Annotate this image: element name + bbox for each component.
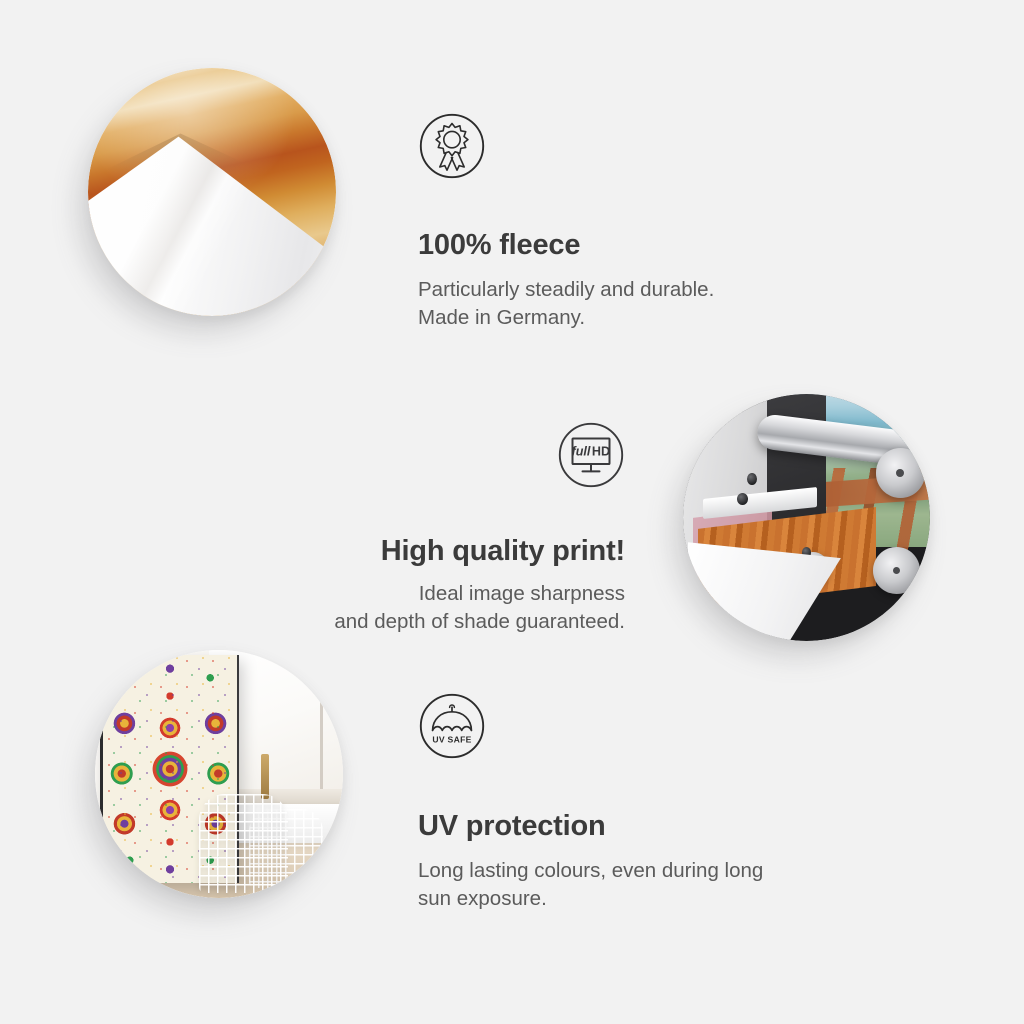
fullhd-monitor-icon: full HD — [557, 421, 625, 489]
room-window-frame — [320, 660, 323, 809]
room-wire-chair — [199, 794, 288, 893]
feature-body: Ideal image sharpness and depth of shade… — [265, 580, 625, 637]
mandala-wallpaper-interior-photo — [95, 650, 343, 898]
photo-inner — [88, 68, 336, 316]
uv-safe-icon-label: UV SAFE — [432, 734, 471, 744]
peeled-fleece-wallpaper-corner-photo — [88, 68, 336, 316]
award-ribbon-icon — [418, 112, 486, 180]
fullhd-icon-label-full: full — [572, 444, 591, 458]
feature-print: full HD High quality print! Ideal image … — [265, 421, 625, 637]
feature-title: 100% fleece — [418, 229, 714, 262]
feature-fleece: 100% fleece Particularly steadily and du… — [418, 112, 714, 333]
press-wheel-hub — [893, 567, 901, 575]
feature-graphic-stage: 100% fleece Particularly steadily and du… — [0, 0, 1024, 1024]
feature-body: Long lasting colours, even during long s… — [418, 857, 763, 914]
press-wheel-hub — [896, 469, 904, 477]
feature-body: Particularly steadily and durable. Made … — [418, 276, 714, 333]
photo-inner — [95, 650, 343, 898]
fullhd-icon-label-hd: HD — [592, 444, 610, 458]
icon-wrap: full HD — [265, 421, 625, 489]
feature-title: UV protection — [418, 810, 763, 843]
press-wheel — [873, 547, 920, 594]
room-candlestick — [261, 754, 268, 799]
press-wheel — [876, 448, 925, 497]
uv-safe-umbrella-icon: UV SAFE — [418, 692, 486, 760]
feature-title: High quality print! — [265, 535, 625, 568]
icon-wrap: UV SAFE — [418, 692, 763, 760]
icon-wrap — [418, 112, 714, 180]
printing-press-machine-photo — [683, 394, 930, 641]
feature-uv-protection: UV SAFE UV protection Long lasting colou… — [418, 692, 763, 914]
photo-inner — [683, 394, 930, 641]
